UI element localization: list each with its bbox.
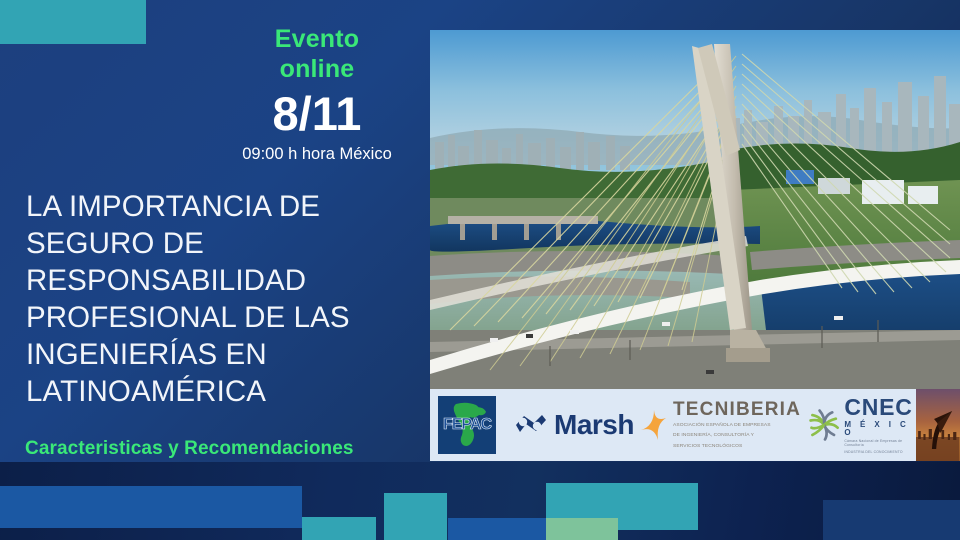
presentation-slide: Evento online 8/11 09:00 h hora México L… — [0, 0, 960, 540]
title-line-1: LA IMPORTANCIA DE — [26, 188, 416, 225]
deco-block-blue-mid — [448, 518, 546, 540]
page-subtitle: Caracteristicas y Recomendaciones — [25, 438, 425, 460]
event-kicker-line2: online — [214, 54, 420, 84]
logo-cnec-label: CNEC — [844, 396, 916, 419]
event-date: 8/11 — [214, 87, 420, 141]
logo-cnec-sub1: Cámara Nacional de Empresas de Consultor… — [844, 439, 916, 448]
logo-tecniberia-sub2: DE INGENIERÍA, CONSULTORÍA Y — [673, 433, 801, 439]
deco-block-teal-small-1 — [302, 517, 376, 540]
page-title: LA IMPORTANCIA DE SEGURO DE RESPONSABILI… — [26, 188, 416, 410]
logo-tecniberia-label: TECNIBERIA — [673, 400, 801, 419]
bridge-photo — [430, 30, 960, 389]
logo-cnec-sub2: INDUSTRIA DEL CONOCIMIENTO — [844, 450, 916, 455]
logo-cnec-region: M É X I C O — [844, 421, 916, 437]
paper-plane-sunset-thumbnail — [916, 389, 960, 461]
tecniberia-star-icon — [638, 408, 668, 442]
deco-block-blue-wide — [0, 486, 302, 528]
logo-tecniberia-sub3: SERVICIOS TECNOLÓGICOS — [673, 444, 801, 450]
deco-block-darkblue-right — [823, 500, 960, 540]
logo-cnec[interactable]: CNEC M É X I C O Cámara Nacional de Empr… — [807, 389, 916, 461]
deco-block-top-teal — [0, 0, 146, 44]
event-info: Evento online 8/11 09:00 h hora México — [214, 24, 420, 165]
deco-block-sage — [546, 518, 618, 540]
logo-marsh[interactable]: Marsh — [512, 389, 634, 461]
cnec-swirl-icon — [807, 406, 841, 444]
title-line-4: PROFESIONAL DE LAS — [26, 299, 416, 336]
paper-plane-icon — [916, 389, 960, 461]
title-line-5: INGENIERÍAS EN — [26, 336, 416, 373]
title-line-2: SEGURO DE — [26, 225, 416, 262]
title-line-3: RESPONSABILIDAD — [26, 262, 416, 299]
title-line-6: LATINOAMÉRICA — [26, 373, 416, 410]
logo-tecniberia[interactable]: TECNIBERIA ASOCIACIÓN ESPAÑOLA DE EMPRES… — [638, 389, 801, 461]
bridge-photo-illustration — [430, 30, 960, 389]
deco-block-teal-small-2 — [384, 493, 447, 540]
sponsor-logo-bar: FEPAC Marsh TECNIBERIA ASOCIACIÓN ESPAÑO… — [430, 389, 960, 461]
logo-marsh-label: Marsh — [554, 409, 634, 441]
logo-fepac[interactable]: FEPAC — [430, 389, 496, 461]
event-time: 09:00 h hora México — [214, 143, 420, 165]
event-kicker-line1: Evento — [214, 24, 420, 54]
marsh-chain-icon — [512, 412, 548, 438]
logo-fepac-label: FEPAC — [443, 416, 491, 434]
logo-tecniberia-sub1: ASOCIACIÓN ESPAÑOLA DE EMPRESAS — [673, 423, 801, 429]
